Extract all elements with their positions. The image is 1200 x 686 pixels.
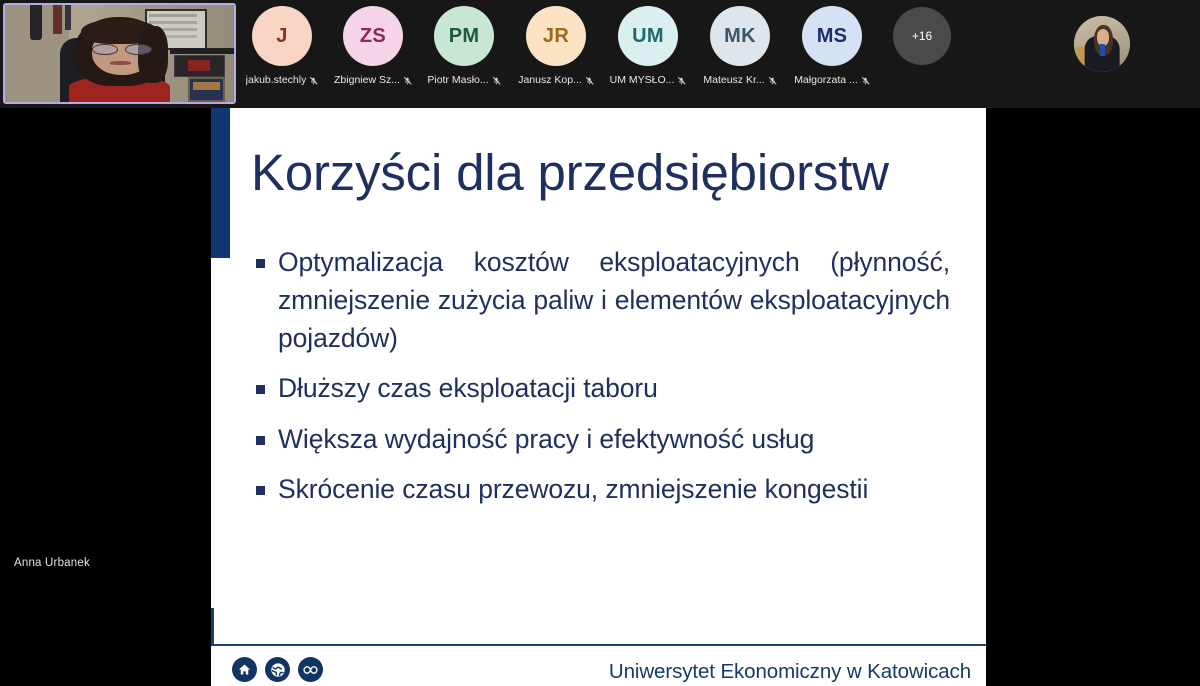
bullet-text: Skrócenie czasu przewozu, zmniejszenie k… xyxy=(278,470,868,508)
participant-tile-5[interactable]: MK Mateusz Kr... xyxy=(710,6,770,86)
participant-name: Mateusz Kr... xyxy=(703,74,764,86)
mic-muted-icon xyxy=(585,74,594,86)
overflow-count-badge: +16 xyxy=(893,7,951,65)
participant-name: Piotr Masło... xyxy=(427,74,488,86)
globe-icon xyxy=(265,657,290,682)
participant-name: Zbigniew Sz... xyxy=(334,74,400,86)
shared-screen-stage[interactable]: Korzyści dla przedsiębiorstw Optymalizac… xyxy=(0,108,1200,686)
bullet-item-2: Większa wydajność pracy i efektywność us… xyxy=(250,420,950,458)
slide-accent-bar xyxy=(211,108,230,258)
participant-avatars: J jakub.stechly ZS Zbigniew Sz... xyxy=(252,6,952,102)
presentation-slide: Korzyści dla przedsiębiorstw Optymalizac… xyxy=(211,108,986,686)
participant-label-4: UM MYSŁO... xyxy=(602,74,694,86)
participant-filmstrip: J jakub.stechly ZS Zbigniew Sz... xyxy=(0,0,1200,108)
self-view-tile[interactable] xyxy=(3,3,236,104)
participant-overflow-tile[interactable]: +16 xyxy=(893,7,953,65)
presenter-name-label: Anna Urbanek xyxy=(14,557,90,569)
mic-muted-icon xyxy=(492,74,501,86)
participant-tile-2[interactable]: PM Piotr Masło... xyxy=(434,6,494,86)
participant-tile-4[interactable]: UM UM MYSŁO... xyxy=(618,6,678,86)
avatar: J xyxy=(252,6,312,66)
participant-tile-0[interactable]: J jakub.stechly xyxy=(252,6,312,86)
mic-muted-icon xyxy=(768,74,777,86)
infinity-icon xyxy=(298,657,323,682)
bullet-item-3: Skrócenie czasu przewozu, zmniejszenie k… xyxy=(250,470,950,508)
participant-tile-3[interactable]: JR Janusz Kop... xyxy=(526,6,586,86)
participant-label-5: Mateusz Kr... xyxy=(694,74,786,86)
bullet-square-icon xyxy=(256,486,265,495)
participant-tile-6[interactable]: MS Małgorzata ... xyxy=(802,6,862,86)
participant-name: UM MYSŁO... xyxy=(610,74,675,86)
slide-footer-divider xyxy=(211,644,986,646)
mic-muted-icon xyxy=(861,74,870,86)
avatar: PM xyxy=(434,6,494,66)
participant-name: Małgorzata ... xyxy=(794,74,858,86)
slide-bullet-list: Optymalizacja kosztów eksploatacyjnych (… xyxy=(250,243,950,520)
participant-label-0: jakub.stechly xyxy=(236,74,328,86)
participant-label-3: Janusz Kop... xyxy=(510,74,602,86)
bullet-item-1: Dłuższy czas eksploatacji taboru xyxy=(250,369,950,407)
home-icon xyxy=(232,657,257,682)
slide-footer-organization: Uniwersytet Ekonomiczny w Katowicach xyxy=(609,660,971,684)
mic-muted-icon xyxy=(309,74,318,86)
host-video-thumbnail[interactable] xyxy=(1074,16,1130,72)
participant-name: Janusz Kop... xyxy=(518,74,582,86)
slide-title: Korzyści dla przedsiębiorstw xyxy=(251,146,951,200)
participant-name: jakub.stechly xyxy=(246,74,307,86)
bullet-text: Optymalizacja kosztów eksploatacyjnych (… xyxy=(278,243,950,357)
meeting-window: J jakub.stechly ZS Zbigniew Sz... xyxy=(0,0,1200,686)
avatar: ZS xyxy=(343,6,403,66)
bullet-text: Większa wydajność pracy i efektywność us… xyxy=(278,420,814,458)
slide-footer-edge-mark xyxy=(211,608,214,644)
bullet-text: Dłuższy czas eksploatacji taboru xyxy=(278,369,658,407)
bullet-item-0: Optymalizacja kosztów eksploatacyjnych (… xyxy=(250,243,950,357)
bullet-square-icon xyxy=(256,259,265,268)
bullet-square-icon xyxy=(256,436,265,445)
avatar: MS xyxy=(802,6,862,66)
mic-muted-icon xyxy=(677,74,686,86)
participant-label-1: Zbigniew Sz... xyxy=(327,74,419,86)
bullet-square-icon xyxy=(256,385,265,394)
avatar: UM xyxy=(618,6,678,66)
participant-tile-1[interactable]: ZS Zbigniew Sz... xyxy=(343,6,403,86)
mic-muted-icon xyxy=(403,74,412,86)
avatar: MK xyxy=(710,6,770,66)
participant-label-2: Piotr Masło... xyxy=(418,74,510,86)
avatar: JR xyxy=(526,6,586,66)
participant-label-6: Małgorzata ... xyxy=(786,74,878,86)
slide-footer-icons xyxy=(232,657,323,682)
